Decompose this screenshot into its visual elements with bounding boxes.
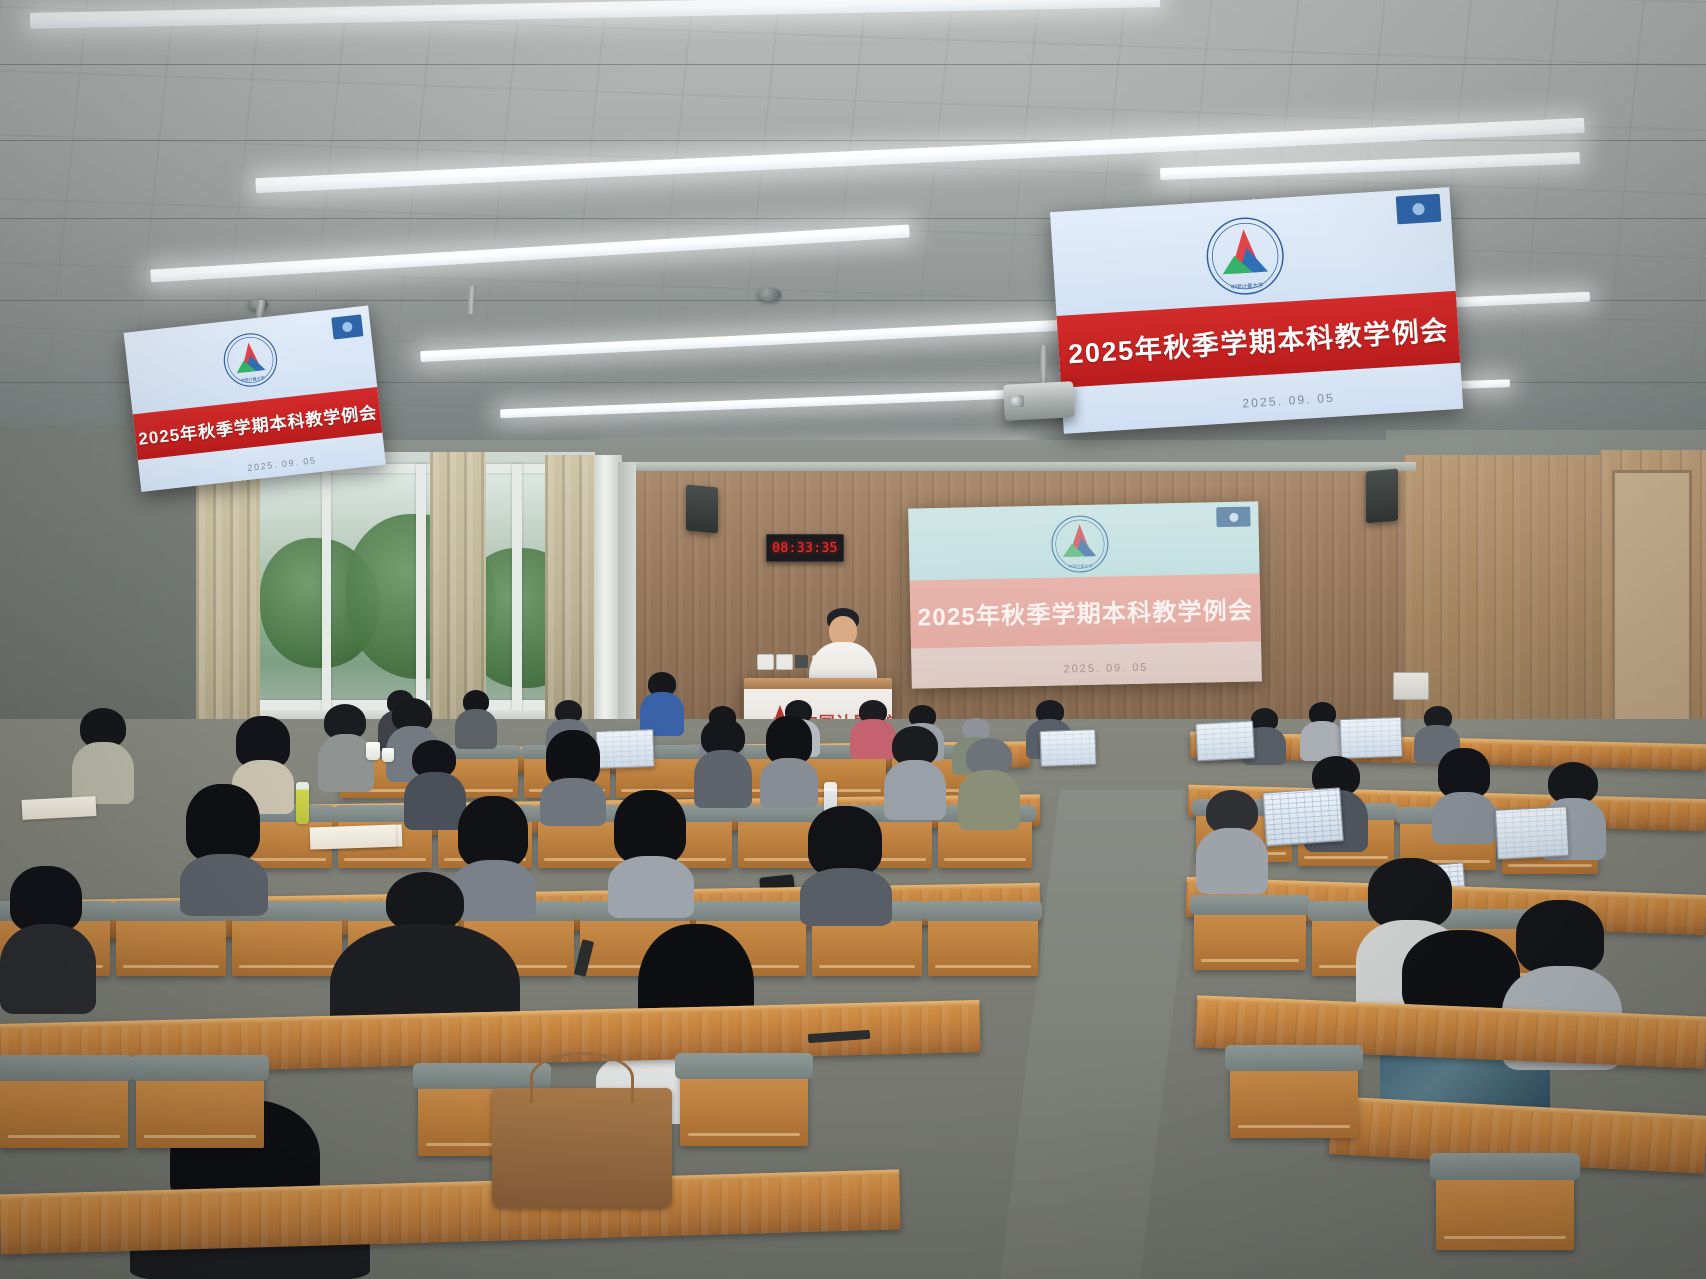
seat: [232, 908, 342, 976]
laptop[interactable]: [1195, 721, 1253, 760]
attendee: [0, 866, 96, 1014]
svg-text:中国计量大学: 中国计量大学: [1068, 562, 1092, 569]
attendee: [800, 806, 892, 926]
laptop[interactable]: [1495, 806, 1567, 858]
wall-speaker: [1366, 469, 1398, 524]
university-emblem: 中国计量大学: [218, 328, 282, 392]
paper-cup[interactable]: [382, 748, 394, 762]
right-projection-screen: 中国计量大学 2025年秋季学期本科教学例会 2025. 09. 05: [1050, 187, 1463, 434]
window-curtain: [196, 448, 260, 760]
digital-wall-clock: 08:33:35: [766, 534, 844, 562]
window-curtain: [545, 455, 597, 725]
attendee: [640, 672, 684, 734]
laptop[interactable]: [1262, 787, 1341, 844]
attendee: [1300, 702, 1344, 760]
laptop[interactable]: [1339, 717, 1400, 757]
screen-device-status-badge: [1396, 194, 1442, 225]
attendee: [72, 708, 134, 804]
ceiling-smoke-detector: [757, 288, 781, 301]
ceiling-projector: [1003, 381, 1075, 421]
seat: [680, 1060, 808, 1146]
svg-text:中国计量大学: 中国计量大学: [240, 374, 265, 383]
seat: [1230, 1052, 1358, 1138]
main-screen-title-band: 2025年秋季学期本科教学例会: [910, 573, 1261, 648]
wall-trim: [596, 462, 1416, 471]
attendee: [760, 716, 818, 808]
seat: [116, 908, 226, 976]
window-mullion: [322, 464, 331, 712]
attendee: [958, 738, 1020, 830]
wall-speaker: [686, 485, 718, 534]
attendee: [1432, 748, 1496, 844]
clock-time: 08:33:35: [772, 541, 838, 556]
lectern-wood-top: [744, 678, 892, 689]
attendee: [884, 726, 946, 820]
university-emblem: 中国计量大学: [1048, 512, 1111, 575]
projector-lens: [1009, 395, 1025, 408]
main-projection-screen: 中国计量大学 2025年秋季学期本科教学例会 2025. 09. 05: [908, 501, 1262, 688]
attendee: [180, 784, 268, 916]
wall-outlet[interactable]: [776, 654, 793, 670]
screen-device-status-badge: [1216, 507, 1250, 528]
wall-control-panel: [1393, 672, 1429, 700]
svg-text:中国计量大学: 中国计量大学: [1230, 281, 1264, 291]
document-sheet[interactable]: [310, 825, 397, 850]
document-sheet[interactable]: [22, 796, 97, 820]
structural-pillar: [618, 462, 636, 742]
laptop[interactable]: [1039, 729, 1094, 765]
attendee: [1196, 790, 1268, 894]
main-screen-date: 2025. 09. 05: [1063, 662, 1148, 676]
handbag[interactable]: [492, 1088, 672, 1208]
seat: [0, 1062, 128, 1148]
university-emblem: 中国计量大学: [1201, 211, 1290, 300]
seat: [928, 908, 1038, 976]
main-screen-title: 2025年秋季学期本科教学例会: [917, 590, 1253, 632]
seat: [136, 1062, 264, 1148]
drink-bottle[interactable]: [296, 782, 309, 824]
projector-mount-stem: [467, 286, 475, 314]
seat: [1194, 902, 1306, 970]
window-mullion: [416, 464, 426, 712]
right-screen-title: 2025年秋季学期本科教学例会: [1067, 308, 1450, 371]
left-projection-screen: 中国计量大学 2025年秋季学期本科教学例会 2025. 09. 05: [124, 305, 386, 491]
projector-mount-stem: [1040, 345, 1047, 385]
seat: [1436, 1160, 1574, 1250]
attendee: [694, 718, 752, 808]
paper-cup[interactable]: [366, 742, 380, 760]
attendee: [608, 790, 694, 918]
attendee: [540, 730, 606, 826]
screen-device-status-badge: [331, 314, 363, 339]
wall-outlet[interactable]: [757, 654, 774, 670]
lecture-hall-photo: 中国计量大学 2025年秋季学期本科教学例会 2025. 09. 05 中国计量…: [0, 0, 1706, 1279]
window-mullion: [512, 464, 522, 714]
handbag-strap: [530, 1052, 634, 1103]
